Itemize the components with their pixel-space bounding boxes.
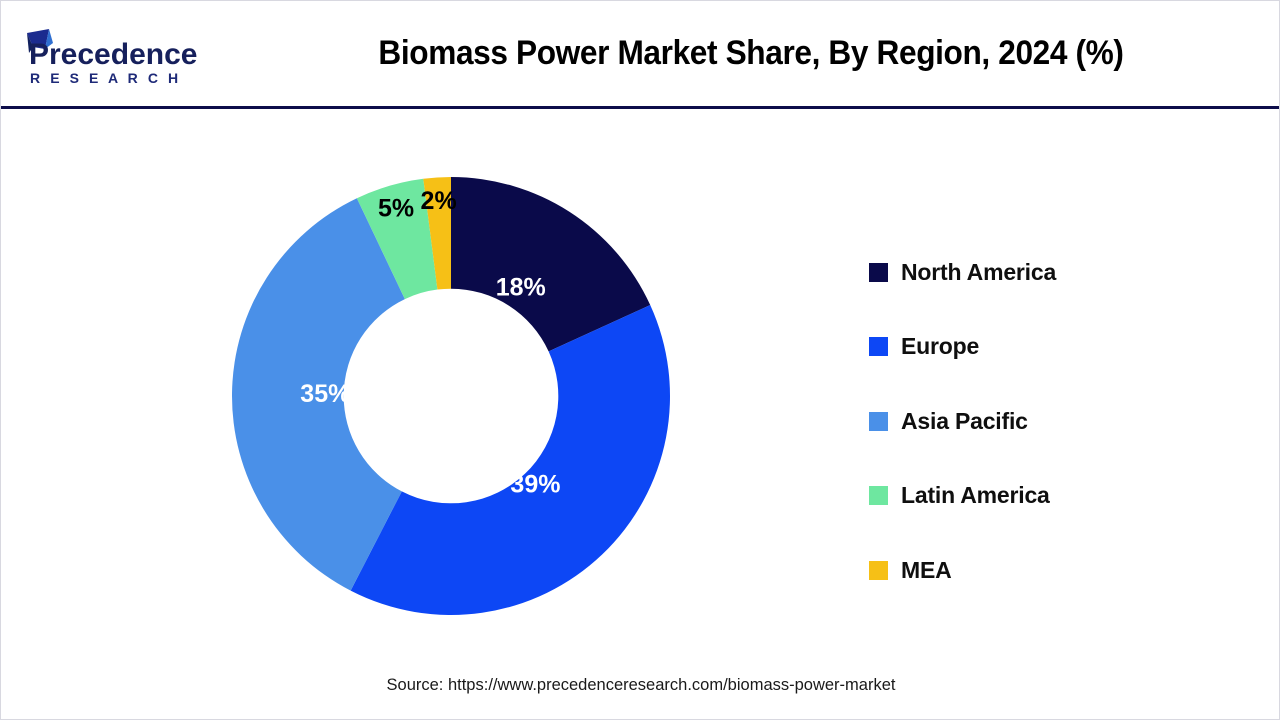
source-note: Source: https://www.precedenceresearch.c… xyxy=(1,676,1280,695)
legend-item[interactable]: North America xyxy=(869,235,1229,310)
slice-value-label: 18% xyxy=(496,273,546,301)
donut-slice[interactable] xyxy=(351,305,670,615)
legend-swatch-icon xyxy=(869,263,888,282)
legend-item-label: North America xyxy=(901,259,1056,286)
donut-chart: 18%39%35%5%2% xyxy=(216,161,686,631)
slice-value-label: 5% xyxy=(378,195,414,223)
legend-swatch-icon xyxy=(869,486,888,505)
infographic-canvas: Precedence R E S E A R C H Biomass Power… xyxy=(0,0,1280,720)
chart-body: 18%39%35%5%2% North AmericaEuropeAsia Pa… xyxy=(1,110,1280,720)
legend-item-label: Europe xyxy=(901,333,979,360)
legend-item[interactable]: MEA xyxy=(869,533,1229,608)
logo-subtitle: R E S E A R C H xyxy=(30,70,181,86)
chart-legend: North AmericaEuropeAsia PacificLatin Ame… xyxy=(869,235,1229,608)
legend-item[interactable]: Latin America xyxy=(869,459,1229,534)
donut-chart-svg: 18%39%35%5%2% xyxy=(216,161,686,631)
slice-value-label: 2% xyxy=(421,187,457,215)
legend-item[interactable]: Asia Pacific xyxy=(869,384,1229,459)
legend-item-label: Asia Pacific xyxy=(901,408,1028,435)
legend-swatch-icon xyxy=(869,412,888,431)
header-band: Precedence R E S E A R C H Biomass Power… xyxy=(1,1,1280,109)
donut-slices xyxy=(232,177,670,615)
legend-swatch-icon xyxy=(869,561,888,580)
legend-swatch-icon xyxy=(869,337,888,356)
precedence-research-logo: Precedence R E S E A R C H xyxy=(19,23,219,89)
logo-wordmark: Precedence xyxy=(29,38,197,71)
legend-item[interactable]: Europe xyxy=(869,310,1229,385)
slice-value-label: 39% xyxy=(510,471,560,499)
legend-item-label: Latin America xyxy=(901,482,1050,509)
slice-value-label: 35% xyxy=(300,380,350,408)
legend-item-label: MEA xyxy=(901,557,952,584)
page-title: Biomass Power Market Share, By Region, 2… xyxy=(267,1,1234,106)
